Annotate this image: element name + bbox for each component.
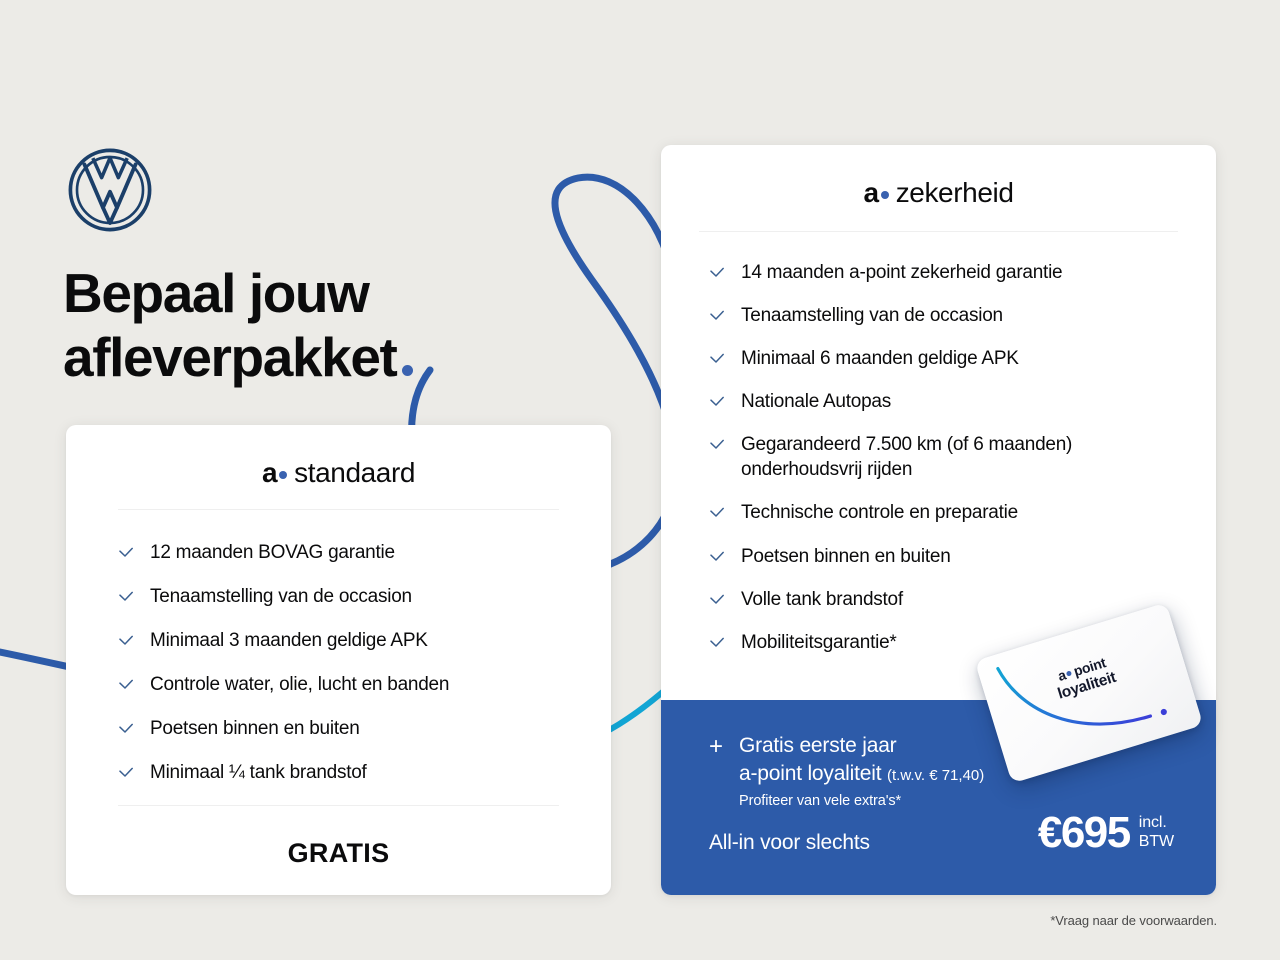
- feature-text: Minimaal 6 maanden geldige APK: [741, 346, 1019, 371]
- headline-accent-dot: [402, 365, 413, 376]
- feature-text: Nationale Autopas: [741, 389, 891, 414]
- check-icon: [709, 592, 725, 608]
- brand-dot-icon: [881, 191, 889, 199]
- feature-text: 14 maanden a-point zekerheid garantie: [741, 260, 1062, 285]
- list-item: Nationale Autopas: [709, 389, 1180, 414]
- list-item: Gegarandeerd 7.500 km (of 6 maanden) ond…: [709, 432, 1180, 482]
- list-item: Poetsen binnen en buiten: [118, 716, 571, 741]
- list-item: Tenaamstelling van de occasion: [709, 303, 1180, 328]
- check-icon: [118, 545, 134, 561]
- feature-text: Tenaamstelling van de occasion: [741, 303, 1003, 328]
- price-vat-line1: incl.: [1139, 814, 1174, 833]
- feature-text: Technische controle en preparatie: [741, 500, 1018, 525]
- price-amount: €695: [1038, 811, 1130, 855]
- feature-text: Tenaamstelling van de occasion: [150, 584, 412, 609]
- price-group: €695 incl. BTW: [1038, 811, 1174, 855]
- list-item: Technische controle en preparatie: [709, 500, 1180, 525]
- plus-icon: +: [709, 735, 723, 812]
- list-item: Minimaal 3 maanden geldige APK: [118, 628, 571, 653]
- price-standaard: GRATIS: [66, 838, 611, 869]
- page-title: Bepaal jouwafleverpakket: [63, 262, 413, 390]
- feature-list-standaard: 12 maanden BOVAG garantie Tenaamstelling…: [66, 540, 611, 785]
- feature-text: Minimaal 3 maanden geldige APK: [150, 628, 428, 653]
- check-icon: [118, 721, 134, 737]
- feature-text: Gegarandeerd 7.500 km (of 6 maanden) ond…: [741, 432, 1072, 482]
- bonus-line-2: a-point loyaliteit (t.w.v. € 71,40): [739, 760, 984, 788]
- check-icon: [709, 394, 725, 410]
- allin-label: All-in voor slechts: [709, 831, 870, 855]
- volkswagen-logo: [66, 146, 154, 234]
- card-title-text: standaard: [294, 457, 415, 488]
- bonus-line-2-value: (t.w.v. € 71,40): [887, 767, 984, 784]
- card-divider-top: [118, 509, 559, 510]
- check-icon: [709, 308, 725, 324]
- check-icon: [118, 633, 134, 649]
- headline-line2: afleverpakket: [63, 326, 396, 388]
- price-row: All-in voor slechts €695 incl. BTW: [709, 811, 1174, 855]
- list-item: Poetsen binnen en buiten: [709, 544, 1180, 569]
- card-divider-bottom: [118, 805, 559, 806]
- bonus-lines: Gratis eerste jaar a-point loyaliteit (t…: [739, 732, 984, 812]
- check-icon: [709, 351, 725, 367]
- list-item: Minimaal ¼ tank brandstof: [118, 760, 571, 785]
- loyalty-brand-a: a: [1056, 666, 1068, 683]
- feature-list-zekerheid: 14 maanden a-point zekerheid garantie Te…: [661, 260, 1216, 655]
- bonus-line-3: Profiteer van vele extra's*: [739, 792, 984, 811]
- check-icon: [709, 437, 725, 453]
- price-vat-line2: BTW: [1139, 833, 1174, 852]
- feature-text: Poetsen binnen en buiten: [150, 716, 360, 741]
- check-icon: [118, 765, 134, 781]
- price-vat: incl. BTW: [1139, 814, 1174, 852]
- feature-text: Minimaal ¼ tank brandstof: [150, 760, 367, 785]
- bonus-line-1: Gratis eerste jaar: [739, 732, 984, 760]
- loyalty-brand-dot-icon: [1066, 670, 1072, 676]
- list-item: 12 maanden BOVAG garantie: [118, 540, 571, 565]
- package-card-zekerheid: azekerheid 14 maanden a-point zekerheid …: [661, 145, 1216, 895]
- bonus-line-2-main: a-point loyaliteit: [739, 762, 881, 785]
- feature-text: Mobiliteitsgarantie*: [741, 630, 897, 655]
- list-item: 14 maanden a-point zekerheid garantie: [709, 260, 1180, 285]
- check-icon: [709, 265, 725, 281]
- package-card-standaard: astandaard 12 maanden BOVAG garantie Ten…: [66, 425, 611, 895]
- card-title-standaard: astandaard: [66, 425, 611, 489]
- card-title-zekerheid: azekerheid: [661, 145, 1216, 209]
- check-icon: [118, 677, 134, 693]
- headline-line1: Bepaal jouw: [63, 262, 369, 324]
- footnote: *Vraag naar de voorwaarden.: [1050, 913, 1217, 928]
- feature-text: 12 maanden BOVAG garantie: [150, 540, 395, 565]
- bonus-block: + Gratis eerste jaar a-point loyaliteit …: [709, 732, 984, 812]
- card-divider-top: [699, 231, 1178, 232]
- check-icon: [118, 589, 134, 605]
- list-item: Tenaamstelling van de occasion: [118, 584, 571, 609]
- brand-dot-icon: [279, 471, 287, 479]
- card-title-text: zekerheid: [896, 177, 1014, 208]
- feature-text: Poetsen binnen en buiten: [741, 544, 951, 569]
- list-item: Controle water, olie, lucht en banden: [118, 672, 571, 697]
- brand-a-letter: a: [262, 457, 277, 488]
- feature-text: Volle tank brandstof: [741, 587, 903, 612]
- feature-text: Controle water, olie, lucht en banden: [150, 672, 449, 697]
- check-icon: [709, 505, 725, 521]
- check-icon: [709, 635, 725, 651]
- list-item: Volle tank brandstof: [709, 587, 1180, 612]
- list-item: Minimaal 6 maanden geldige APK: [709, 346, 1180, 371]
- brand-a-letter: a: [864, 177, 879, 208]
- check-icon: [709, 549, 725, 565]
